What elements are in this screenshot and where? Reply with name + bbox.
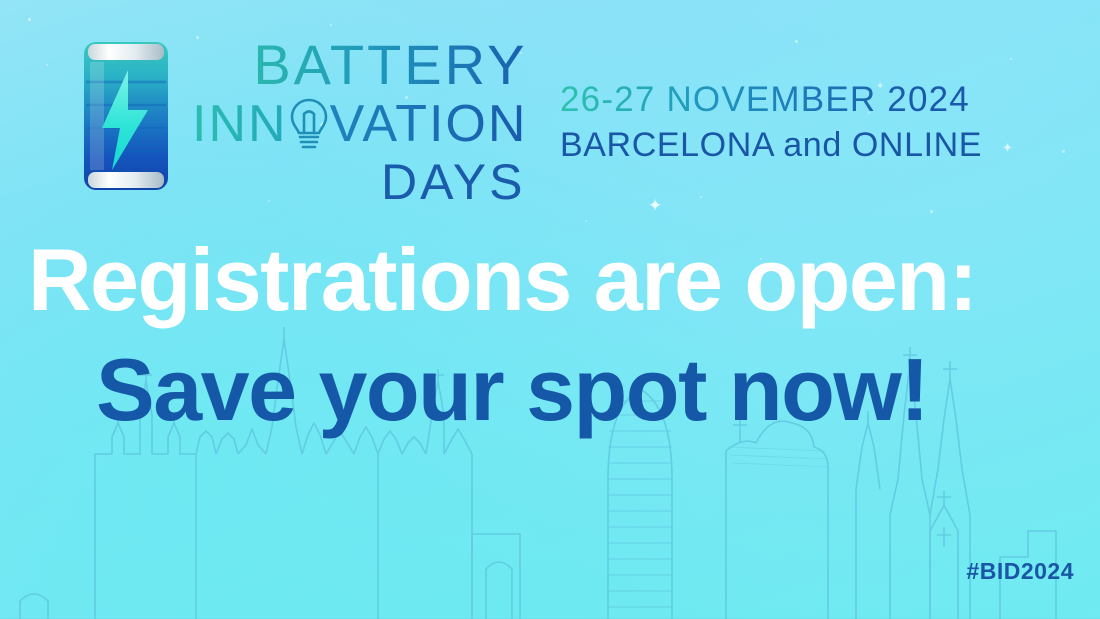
sparkle-star: ✦ bbox=[648, 198, 662, 215]
headline-line-2: Save your spot now! bbox=[96, 346, 928, 434]
sparkle-dot bbox=[930, 210, 933, 213]
logo-word-battery: BATTERY bbox=[253, 38, 527, 93]
logo-word-innovation: INN VATION bbox=[192, 95, 527, 153]
lightbulb-icon bbox=[286, 95, 332, 153]
logo-word-innovation-prefix: INN bbox=[192, 98, 288, 150]
sparkle-star: ✦ bbox=[1002, 142, 1013, 155]
logo-wordmark: BATTERY INN VATION DAYS bbox=[192, 36, 527, 207]
sparkle-dot bbox=[330, 24, 332, 26]
sparkle-dot bbox=[1010, 58, 1012, 60]
sparkle-dot bbox=[46, 64, 48, 66]
logo-word-days: DAYS bbox=[381, 157, 525, 207]
event-details: 26-27 NOVEMBER 2024 BARCELONA and ONLINE bbox=[560, 78, 982, 166]
sparkle-dot bbox=[585, 220, 587, 222]
event-location: BARCELONA and ONLINE bbox=[560, 124, 982, 167]
sparkle-dot bbox=[700, 196, 702, 198]
event-logo: BATTERY INN VATION DAYS bbox=[78, 36, 527, 207]
logo-word-innovation-suffix: VATION bbox=[330, 98, 528, 150]
sparkle-dot bbox=[28, 18, 31, 21]
event-hashtag: #BID2024 bbox=[966, 558, 1074, 585]
headline-line-1: Registrations are open: bbox=[28, 236, 976, 324]
sparkle-dot bbox=[795, 40, 798, 43]
sparkle-dot bbox=[1062, 150, 1065, 153]
event-date: 26-27 NOVEMBER 2024 bbox=[560, 78, 982, 122]
battery-lightning-icon bbox=[78, 36, 174, 196]
event-promo-banner: ✦ ✦ ✦ ✦ bbox=[0, 0, 1100, 619]
